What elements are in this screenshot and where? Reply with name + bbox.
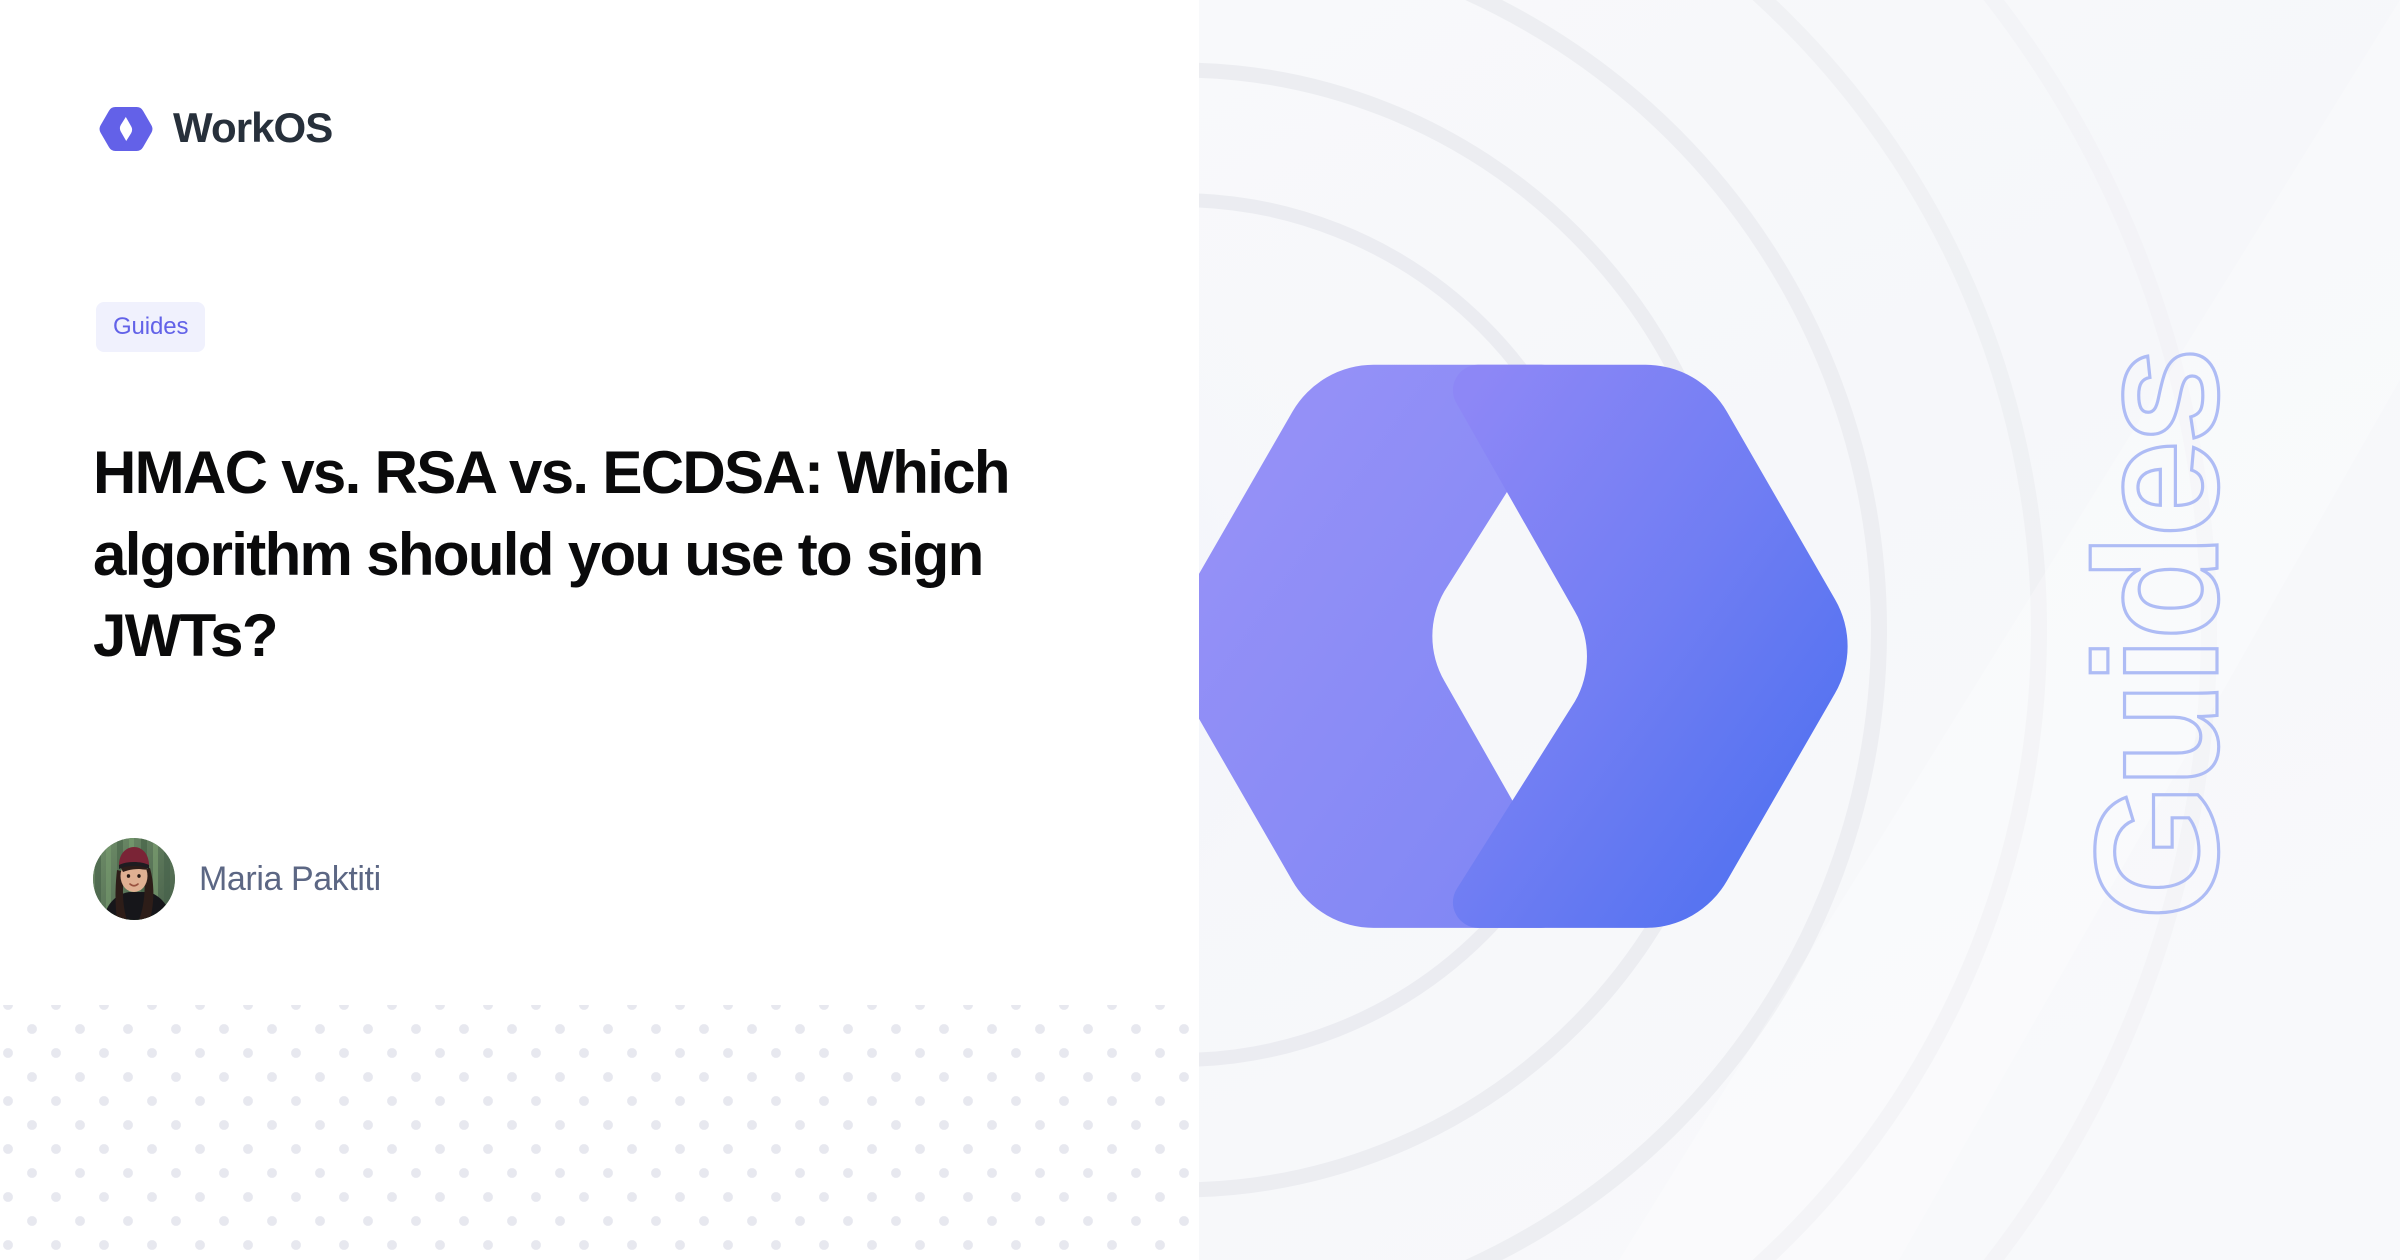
concentric-rings-decoration-icon (1199, 0, 2400, 1260)
workos-logo-mark-icon (98, 100, 154, 156)
left-content-panel: WorkOS Guides HMAC vs. RSA vs. ECDSA: Wh… (0, 0, 1199, 1260)
category-badge[interactable]: Guides (96, 302, 205, 352)
author-byline[interactable]: Maria Paktiti (93, 838, 381, 920)
right-artwork-panel: Guides (1199, 0, 2400, 1260)
author-name: Maria Paktiti (199, 862, 381, 896)
dot-grid-pattern-icon (0, 1005, 1199, 1260)
blog-share-card: WorkOS Guides HMAC vs. RSA vs. ECDSA: Wh… (0, 0, 2400, 1260)
category-badge-label: Guides (113, 315, 188, 339)
article-headline: HMAC vs. RSA vs. ECDSA: Which algorithm … (93, 432, 1053, 677)
brand-wordmark: WorkOS (173, 107, 332, 149)
brand-logo-lockup[interactable]: WorkOS (98, 100, 332, 156)
author-avatar (93, 838, 175, 920)
